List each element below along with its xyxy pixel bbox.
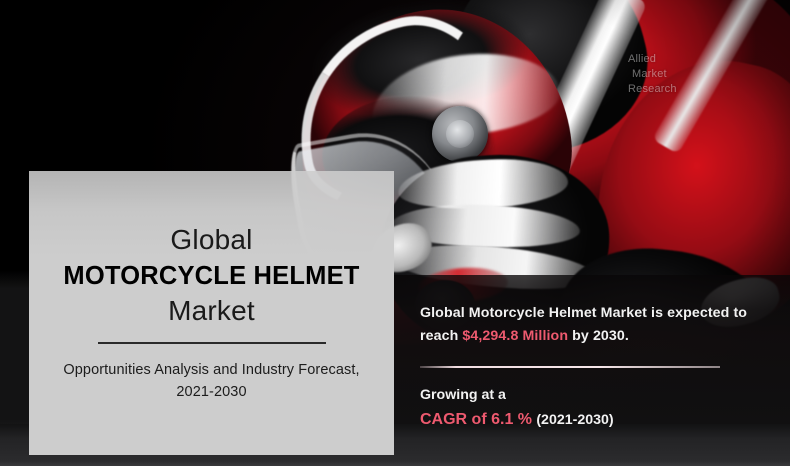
cagr-period: (2021-2030) bbox=[536, 412, 613, 428]
visor-pivot-inner bbox=[446, 120, 474, 148]
market-size-text-post: by 2030. bbox=[572, 328, 629, 344]
title-divider bbox=[98, 342, 326, 344]
growth-label: Growing at a bbox=[420, 385, 770, 406]
market-size-value: $4,294.8 Million bbox=[462, 328, 568, 344]
market-size-statement: Global Motorcycle Helmet Market is expec… bbox=[420, 302, 770, 348]
market-report-banner: Allied Market Research Global MOTORCYCLE… bbox=[0, 0, 790, 466]
stats-divider bbox=[420, 366, 720, 368]
report-scope-label: Global bbox=[170, 225, 252, 255]
page-title: MOTORCYCLE HELMET bbox=[63, 261, 359, 291]
watermark-line-1: Allied bbox=[618, 52, 714, 67]
watermark-line-3: Research bbox=[618, 82, 714, 97]
market-stats-panel: Global Motorcycle Helmet Market is expec… bbox=[420, 302, 770, 433]
cagr-value: CAGR of 6.1 % bbox=[420, 411, 532, 428]
left-dark-band bbox=[0, 0, 30, 466]
watermark-line-2: Market bbox=[618, 67, 714, 82]
report-subtitle: Opportunities Analysis and Industry Fore… bbox=[47, 360, 377, 404]
report-title-card: Global MOTORCYCLE HELMET Market Opportun… bbox=[29, 171, 394, 455]
allied-market-research-watermark: Allied Market Research bbox=[618, 52, 714, 97]
cagr-statement: CAGR of 6.1 % (2021-2030) bbox=[420, 408, 770, 433]
report-title-suffix: Market bbox=[168, 295, 255, 326]
